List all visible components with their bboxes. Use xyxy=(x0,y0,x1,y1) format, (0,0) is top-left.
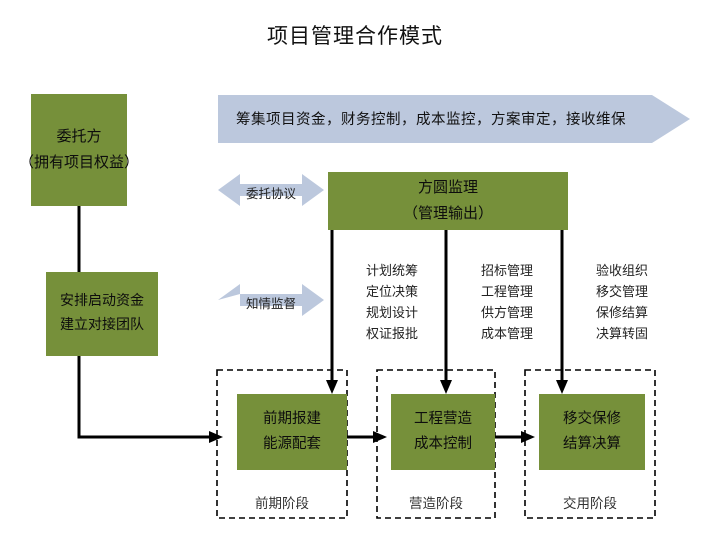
duty-item: 移交管理 xyxy=(578,281,666,302)
diagram-canvas: 项目管理合作模式 xyxy=(0,0,710,555)
stage-box-1-line2: 能源配套 xyxy=(263,432,321,457)
duty-item: 保修结算 xyxy=(578,302,666,323)
funding-box-line2: 建立对接团队 xyxy=(60,314,144,339)
arrowhead-funding-to-stage1 xyxy=(209,431,223,443)
arrowhead-stage1-to-stage2 xyxy=(373,431,387,443)
funding-box-line1: 安排启动资金 xyxy=(60,290,144,315)
stage-box-2-line2: 成本控制 xyxy=(414,432,472,457)
duty-item: 规划设计 xyxy=(348,302,436,323)
duty-item: 定位决策 xyxy=(348,281,436,302)
arrowhead-stage2-to-stage3 xyxy=(521,431,535,443)
stage-label-1: 前期阶段 xyxy=(217,492,347,512)
stage-box-2[interactable]: 工程营造 成本控制 xyxy=(391,394,495,470)
stage-box-1-line1: 前期报建 xyxy=(263,407,321,432)
stage-box-3-line1: 移交保修 xyxy=(563,407,621,432)
duty-column-2: 招标管理 工程管理 供方管理 成本管理 xyxy=(463,260,551,344)
stage-box-1[interactable]: 前期报建 能源配套 xyxy=(237,394,347,470)
duty-item: 供方管理 xyxy=(463,302,551,323)
stage-label-2: 营造阶段 xyxy=(377,492,495,512)
stage-box-3-line2: 结算决算 xyxy=(563,432,621,457)
duty-item: 计划统筹 xyxy=(348,260,436,281)
funding-box[interactable]: 安排启动资金 建立对接团队 xyxy=(46,272,158,356)
duty-column-1: 计划统筹 定位决策 规划设计 权证报批 xyxy=(348,260,436,344)
arrowhead-supervisor-to-stage3 xyxy=(556,380,568,394)
duty-item: 权证报批 xyxy=(348,323,436,344)
client-box-line2: （拥有项目权益） xyxy=(19,150,139,176)
supervisor-box-line2: （管理输出） xyxy=(403,201,493,227)
bidirectional-arrow-2-label: 知情监督 xyxy=(233,293,309,312)
stage-label-3: 交用阶段 xyxy=(525,492,655,512)
duty-item: 验收组织 xyxy=(578,260,666,281)
stage-box-2-line1: 工程营造 xyxy=(414,407,472,432)
arrowhead-supervisor-to-stage1 xyxy=(326,380,338,394)
duty-item: 成本管理 xyxy=(463,323,551,344)
client-box[interactable]: 委托方 （拥有项目权益） xyxy=(31,94,127,206)
supervisor-box[interactable]: 方圆监理 （管理输出） xyxy=(328,172,568,230)
duty-item: 决算转固 xyxy=(578,323,666,344)
responsibility-banner-label: 筹集项目资金，财务控制，成本监控，方案审定，接收维保 xyxy=(236,108,676,129)
arrowhead-supervisor-to-stage2 xyxy=(440,380,452,394)
duty-item: 工程管理 xyxy=(463,281,551,302)
connector-funding-to-stage1 xyxy=(79,356,211,437)
duty-column-3: 验收组织 移交管理 保修结算 决算转固 xyxy=(578,260,666,344)
stage-box-3[interactable]: 移交保修 结算决算 xyxy=(539,394,645,470)
duty-item: 招标管理 xyxy=(463,260,551,281)
bidirectional-arrow-1-label: 委托协议 xyxy=(233,183,309,202)
supervisor-box-line1: 方圆监理 xyxy=(418,175,478,201)
client-box-line1: 委托方 xyxy=(56,124,101,150)
